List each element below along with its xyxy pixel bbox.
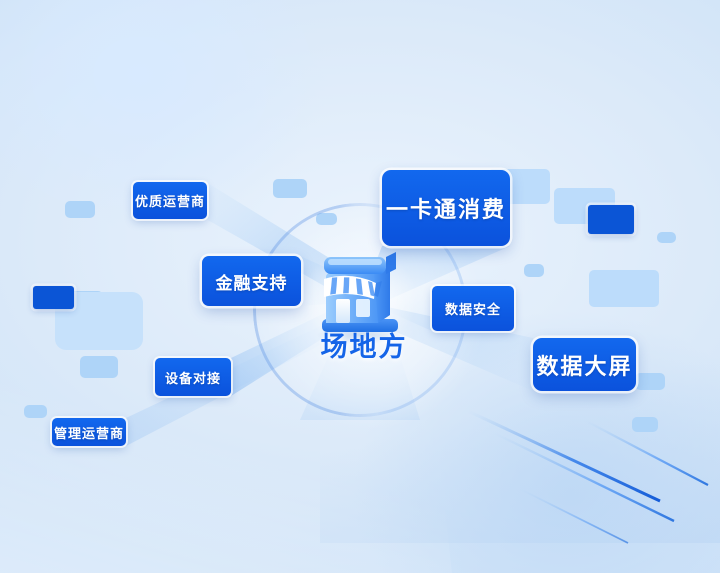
decorative-rect-deco-1 xyxy=(65,201,95,218)
chip-label: 一卡通消费 xyxy=(386,192,506,224)
decorative-rect-deco-6 xyxy=(80,356,118,378)
chip-label: 数据大屏 xyxy=(536,349,632,381)
background-diagonal-band-secondary xyxy=(320,343,720,543)
chip-yikatong-xiaofei[interactable]: 一卡通消费 xyxy=(382,170,510,246)
chip-label: 管理运营商 xyxy=(54,423,124,442)
decorative-rect-deco-7 xyxy=(24,405,47,418)
chip-label: 数据安全 xyxy=(445,299,501,318)
decorative-rect-deco-11 xyxy=(524,264,544,277)
chip-youzhi-yunyingshang[interactable]: 优质运营商 xyxy=(133,182,207,219)
infographic-canvas: 场地方 优质运营商金融支持设备对接管理运营商一卡通消费数据安全数据大屏 xyxy=(0,0,720,573)
decorative-rect-deco-16 xyxy=(316,213,337,225)
decorative-rect-deco-12 xyxy=(589,270,659,307)
decorative-rect-deco-3 xyxy=(60,291,103,316)
chip-label: 金融支持 xyxy=(216,269,288,294)
decorative-rect-deco-14 xyxy=(632,417,658,432)
chip-label: 优质运营商 xyxy=(135,191,205,210)
decorative-rect-deco-9 xyxy=(588,205,634,234)
chip-shebei-duijie[interactable]: 设备对接 xyxy=(155,358,231,396)
accent-streaks xyxy=(460,393,720,573)
chip-guanli-yunyingshang[interactable]: 管理运营商 xyxy=(52,418,126,446)
decorative-rect-deco-4 xyxy=(55,292,143,350)
decorative-rect-deco-8 xyxy=(554,188,615,224)
decorative-rect-deco-10 xyxy=(657,232,676,243)
decorative-rect-deco-15 xyxy=(273,179,307,198)
chip-shuju-anquan[interactable]: 数据安全 xyxy=(432,286,514,331)
decorative-rect-deco-5 xyxy=(33,286,74,309)
decorative-rect-deco-13 xyxy=(635,373,665,390)
page-title: 场地方 xyxy=(300,333,428,363)
chip-label: 设备对接 xyxy=(165,368,221,387)
storefront-icon xyxy=(312,243,408,338)
chip-shuju-daping[interactable]: 数据大屏 xyxy=(533,338,636,391)
chip-jinrong-zhichi[interactable]: 金融支持 xyxy=(202,256,301,306)
